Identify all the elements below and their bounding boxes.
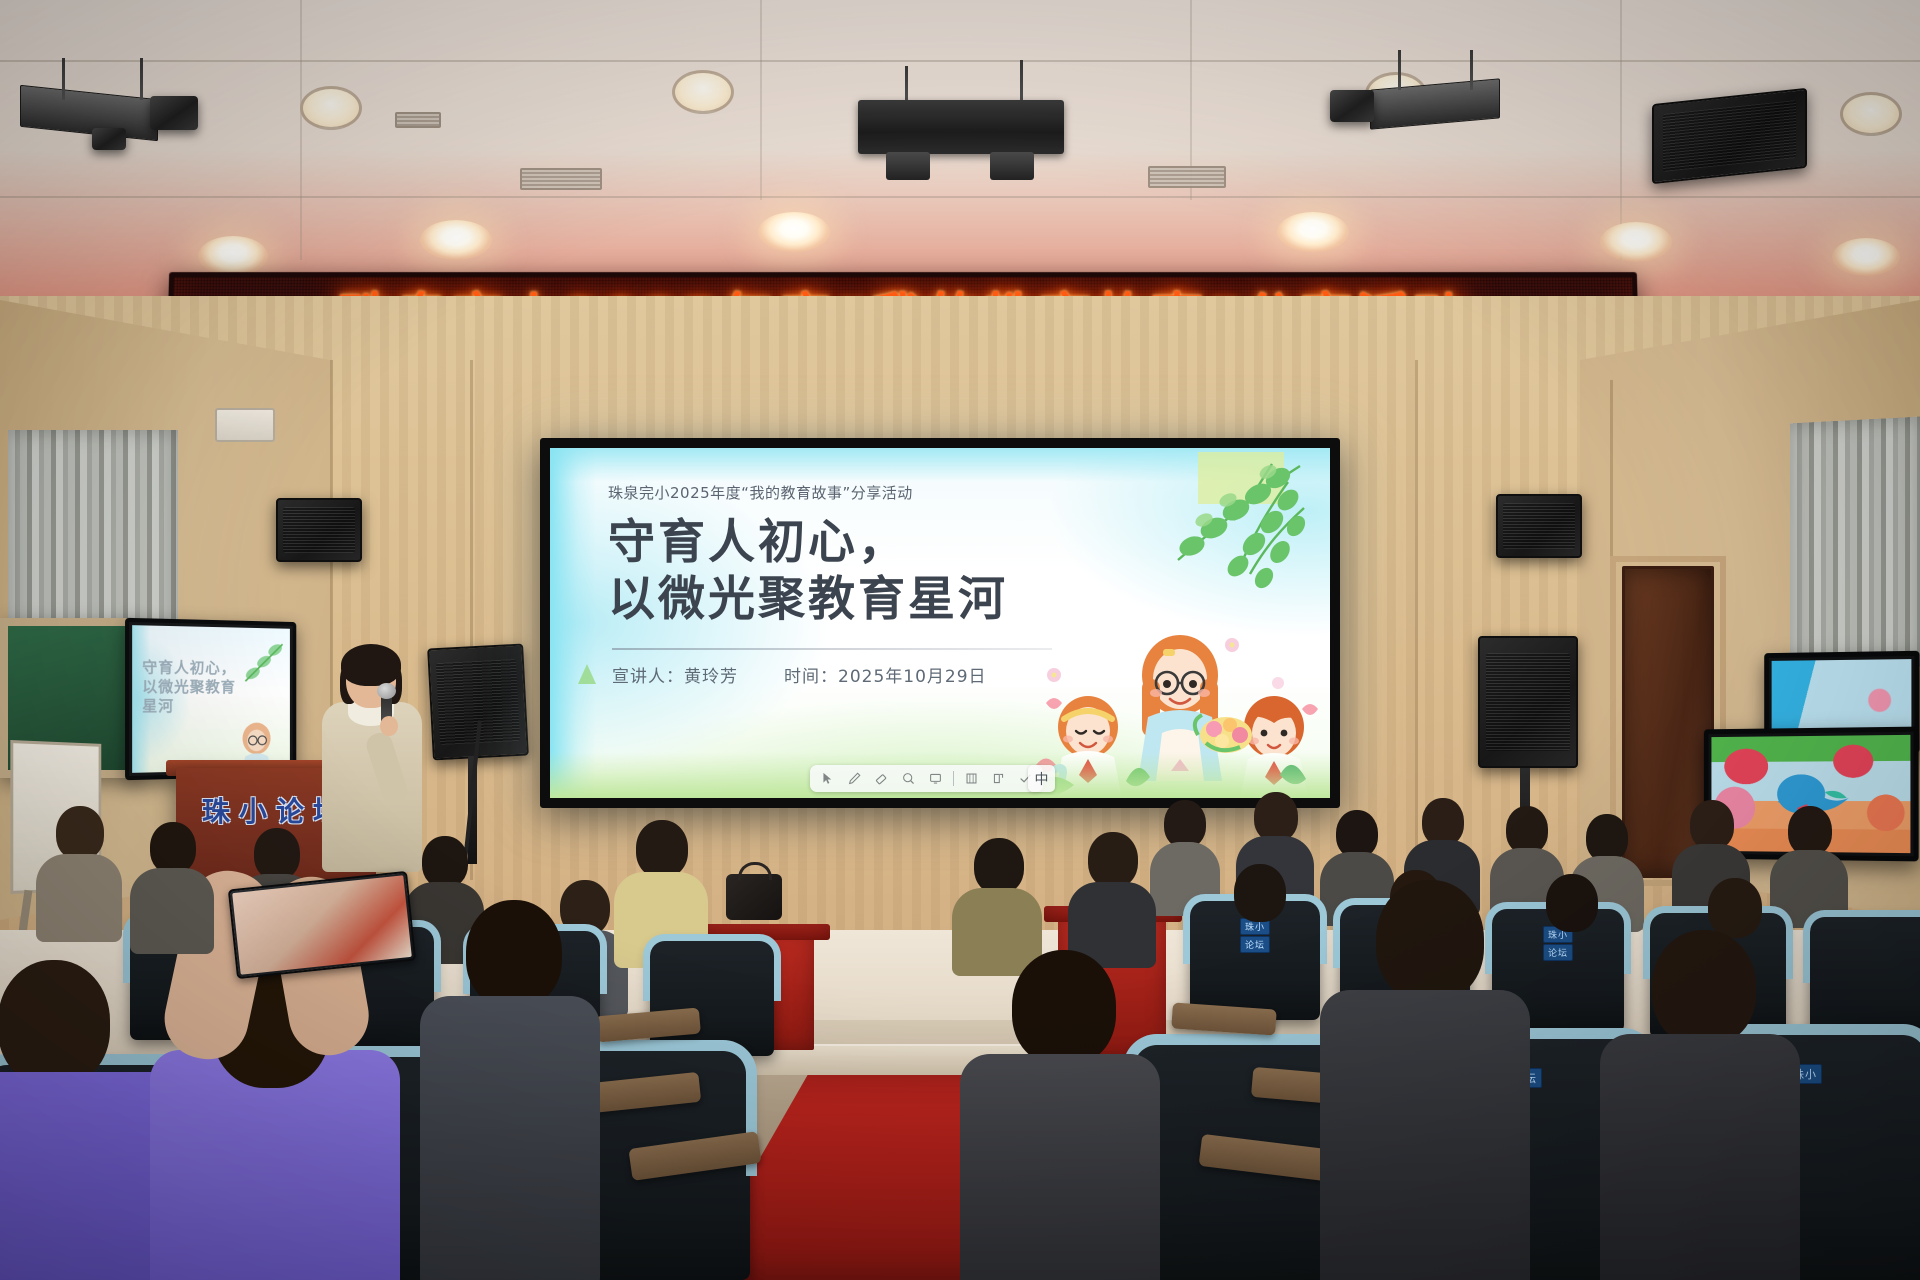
- slide-presenter: 宣讲人：黄玲芳: [612, 662, 738, 687]
- truss-cable: [1020, 60, 1023, 104]
- slide-content: 珠泉完小2025年度“我的教育故事”分享活动 守育人初心， 以微光聚教育星河 宣…: [550, 448, 1330, 798]
- slide-title-line1: 守育人初心，: [608, 514, 1078, 571]
- presentation-toolbar[interactable]: [810, 765, 1043, 792]
- slide-meta: 宣讲人：黄玲芳 时间：2025年10月29日: [612, 662, 987, 687]
- stage-spotlight: [150, 96, 198, 130]
- audience-person-foreground: [960, 950, 1160, 1280]
- ceiling-seam: [760, 0, 762, 200]
- slide-title: 守育人初心， 以微光聚教育星河: [608, 514, 1078, 629]
- side-monitor-leaf-icon: [232, 639, 288, 691]
- audience-person: [952, 838, 1042, 968]
- grid-icon[interactable]: [959, 768, 984, 789]
- audience-person: [1770, 806, 1848, 922]
- smartphone-recording[interactable]: [228, 871, 416, 979]
- audience-person: [1216, 864, 1304, 934]
- audience-person-foreground: [1600, 930, 1800, 1280]
- truss-cable: [1470, 50, 1473, 90]
- truss-cable: [140, 58, 143, 100]
- side-monitor-slide: 守育人初心， 以微光聚教育星河: [132, 625, 290, 773]
- chair-name-tag: 论坛: [1543, 944, 1573, 961]
- side-monitor-title-line1: 守育人初心，: [142, 658, 239, 678]
- ceiling-seam: [0, 60, 1920, 62]
- presenter-hair: [341, 644, 401, 686]
- window-curtain: [1790, 417, 1920, 674]
- ceiling-downlight: [1832, 238, 1900, 276]
- slide-title-line2: 以微光聚教育星河: [608, 571, 1078, 628]
- pen-icon[interactable]: [842, 768, 867, 789]
- ceiling-downlight: [198, 236, 268, 276]
- ceiling-seam: [1620, 0, 1622, 260]
- audience-person: [130, 822, 214, 948]
- truss-cable: [905, 66, 908, 104]
- presenter-hand: [380, 716, 398, 736]
- chair-name-tag: 论坛: [1240, 936, 1270, 953]
- auditorium-photo: 珠泉完小2025年度“我的教育故事”分享活动: [0, 0, 1920, 1280]
- stage-spotlight: [92, 128, 126, 150]
- ceiling-downlight: [1277, 212, 1349, 252]
- ceiling-downlight: [300, 86, 362, 130]
- ac-vent: [520, 168, 602, 190]
- microphone-head: [377, 683, 396, 699]
- slide-header-text: 珠泉完小2025年度“我的教育故事”分享活动: [608, 482, 913, 503]
- stage-spotlight: [1330, 90, 1374, 122]
- truss-cable: [62, 58, 65, 100]
- audience-person-foreground: [1320, 880, 1530, 1280]
- cursor-icon[interactable]: [815, 768, 840, 789]
- ceiling-downlight: [1840, 92, 1902, 136]
- handbag: [726, 874, 782, 920]
- slide-date: 时间：2025年10月29日: [784, 662, 987, 687]
- slide-decor-left: [550, 448, 596, 798]
- audience-person-foreground: [420, 900, 600, 1280]
- ac-vent: [1148, 166, 1226, 188]
- share-icon[interactable]: [986, 768, 1011, 789]
- side-monitor: 守育人初心， 以微光聚教育星河: [125, 618, 296, 780]
- auditorium-chair[interactable]: [650, 940, 774, 1056]
- ceiling-downlight: [672, 70, 734, 114]
- slide-bullet-marker: [578, 664, 596, 684]
- ceiling-truss: [858, 100, 1064, 154]
- truss-cable: [1398, 50, 1401, 90]
- ceiling-downlight: [758, 212, 830, 252]
- ac-vent: [395, 112, 441, 128]
- audience-person: [1068, 832, 1156, 960]
- eraser-icon[interactable]: [869, 768, 894, 789]
- audience-person: [36, 806, 122, 936]
- ceiling-seam: [0, 196, 1920, 198]
- ime-indicator[interactable]: 中: [1028, 765, 1055, 792]
- magnifier-icon[interactable]: [896, 768, 921, 789]
- ceiling-speaker: [1652, 88, 1807, 184]
- toolbar-divider: [953, 771, 954, 786]
- floor-speaker: [1478, 636, 1578, 768]
- side-monitor-title: 守育人初心， 以微光聚教育星河: [142, 658, 239, 716]
- side-monitor-title-line2: 以微光聚教育星河: [142, 677, 239, 715]
- ceiling-seam: [300, 0, 302, 260]
- projector-mount: [886, 152, 930, 180]
- ceiling-downlight: [420, 220, 492, 260]
- projection-screen: 珠泉完小2025年度“我的教育故事”分享活动 守育人初心， 以微光聚教育星河 宣…: [540, 438, 1340, 808]
- wall-sensor: [215, 408, 275, 442]
- wall-speaker: [276, 498, 362, 562]
- slide-divider: [612, 648, 1052, 650]
- ceiling-downlight: [1600, 222, 1672, 262]
- wall-speaker: [1496, 494, 1582, 558]
- projector-mount: [990, 152, 1034, 180]
- screen-icon[interactable]: [923, 768, 948, 789]
